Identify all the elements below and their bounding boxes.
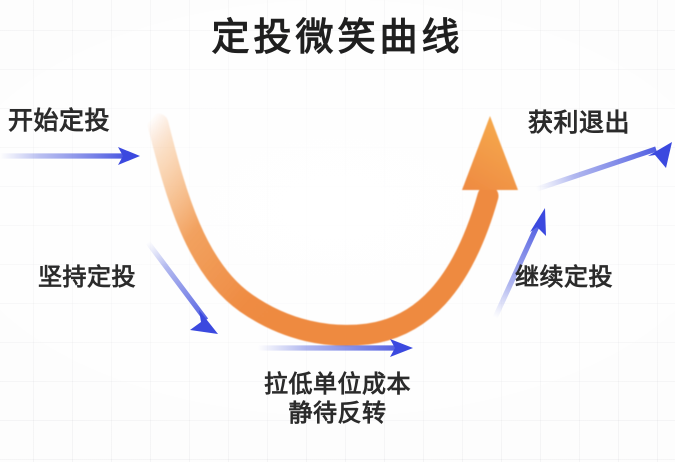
label-lower-cost-block: 拉低单位成本 静待反转: [0, 370, 675, 429]
label-lower-cost-line2: 静待反转: [0, 399, 675, 428]
arrow-profitable-exit: [534, 142, 672, 190]
smile-curve: [158, 116, 518, 335]
label-keep-investing: 坚持定投: [38, 263, 136, 292]
arrow-start-investing: [0, 147, 140, 165]
label-continue-investing: 继续定投: [515, 263, 613, 292]
page-title: 定投微笑曲线: [0, 14, 675, 60]
smile-curve-arrowhead: [462, 116, 518, 190]
label-lower-cost-line1: 拉低单位成本: [0, 370, 675, 399]
label-profitable-exit: 获利退出: [528, 108, 630, 139]
label-start-investing: 开始定投: [8, 106, 110, 137]
smile-curve-infographic: 定投微笑曲线 开始定投 获利退出 坚持定投 继续定投 拉低单位成本 静待反转: [0, 0, 675, 462]
